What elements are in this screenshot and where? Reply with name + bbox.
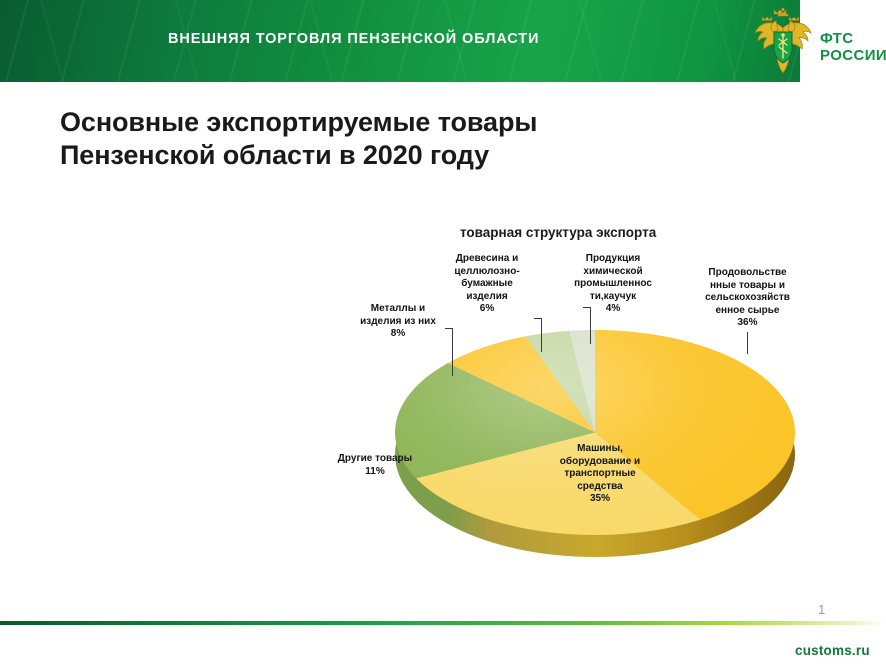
pie-label-other: Другие товары 11% bbox=[320, 453, 430, 478]
pie-label-machines-value: 35% bbox=[536, 493, 664, 506]
pie-label-metals-value: 8% bbox=[342, 328, 454, 341]
pie-label-metals: Металлы и изделия из них 8% bbox=[342, 303, 454, 341]
page-title-line2: Пензенской области в 2020 году bbox=[60, 139, 700, 172]
pie-leader-wood-elbow bbox=[534, 318, 542, 319]
pie-label-metals-l1: Металлы и bbox=[342, 303, 454, 316]
page-title-line1: Основные экспортируемые товары bbox=[60, 106, 700, 139]
pie-label-wood-l3: бумажные bbox=[433, 278, 541, 291]
pie-label-chemicals-l4: ти,каучук bbox=[562, 291, 664, 304]
pie-label-food-value: 36% bbox=[685, 317, 810, 330]
pie-label-chemicals-value: 4% bbox=[562, 303, 664, 316]
pie-label-machines-l4: средства bbox=[536, 481, 664, 494]
double-headed-eagle-icon bbox=[752, 8, 814, 80]
export-structure-chart: товарная структура экспорта Продовольств… bbox=[300, 215, 886, 595]
pie-leader-food bbox=[747, 332, 748, 354]
pie-label-wood-l1: Древесина и bbox=[433, 253, 541, 266]
header-banner-title: ВНЕШНЯЯ ТОРГОВЛЯ ПЕНЗЕНСКОЙ ОБЛАСТИ bbox=[168, 31, 539, 47]
page-number: 1 bbox=[818, 602, 825, 617]
fts-logo-line2: РОССИИ bbox=[820, 47, 886, 64]
fts-logo-line1: ФТС bbox=[820, 30, 886, 47]
pie-label-food-l2: нные товары и bbox=[685, 280, 810, 293]
pie-label-machines-l1: Машины, bbox=[536, 443, 664, 456]
pie-label-wood-l2: целлюлозно- bbox=[433, 266, 541, 279]
pie-label-chemicals-l2: химической bbox=[562, 266, 664, 279]
footer-divider bbox=[0, 621, 886, 625]
pie-leader-metals-elbow bbox=[445, 328, 453, 329]
page-title: Основные экспортируемые товары Пензенско… bbox=[60, 106, 700, 172]
pie-leader-metals bbox=[452, 328, 453, 376]
chart-title: товарная структура экспорта bbox=[460, 225, 656, 240]
pie-label-other-value: 11% bbox=[320, 466, 430, 479]
pie-leader-wood bbox=[541, 318, 542, 352]
pie-label-food-l4: енное сырье bbox=[685, 305, 810, 318]
fts-logo: ФТС РОССИИ bbox=[752, 8, 882, 84]
pie-leader-chemicals-elbow bbox=[583, 307, 591, 308]
pie-label-metals-l2: изделия из них bbox=[342, 316, 454, 329]
pie-leader-chemicals bbox=[590, 307, 591, 344]
footer-brand: customs.ru bbox=[795, 643, 870, 658]
pie-label-machines-l3: транспортные bbox=[536, 468, 664, 481]
pie-label-chemicals: Продукция химической промышленнос ти,кау… bbox=[562, 253, 664, 316]
fts-logo-text: ФТС РОССИИ bbox=[820, 30, 886, 64]
pie-label-food-l1: Продовольстве bbox=[685, 267, 810, 280]
pie-label-machines-l2: оборудование и bbox=[536, 456, 664, 469]
pie-label-other-l1: Другие товары bbox=[320, 453, 430, 466]
pie-label-chemicals-l1: Продукция bbox=[562, 253, 664, 266]
pie-label-wood-l4: изделия bbox=[433, 291, 541, 304]
pie-label-food: Продовольстве нные товары и сельскохозяй… bbox=[685, 267, 810, 330]
pie-label-food-l3: сельскохозяйств bbox=[685, 292, 810, 305]
header-banner: ВНЕШНЯЯ ТОРГОВЛЯ ПЕНЗЕНСКОЙ ОБЛАСТИ bbox=[0, 0, 800, 82]
pie-label-machines: Машины, оборудование и транспортные сред… bbox=[536, 443, 664, 506]
pie-label-chemicals-l3: промышленнос bbox=[562, 278, 664, 291]
